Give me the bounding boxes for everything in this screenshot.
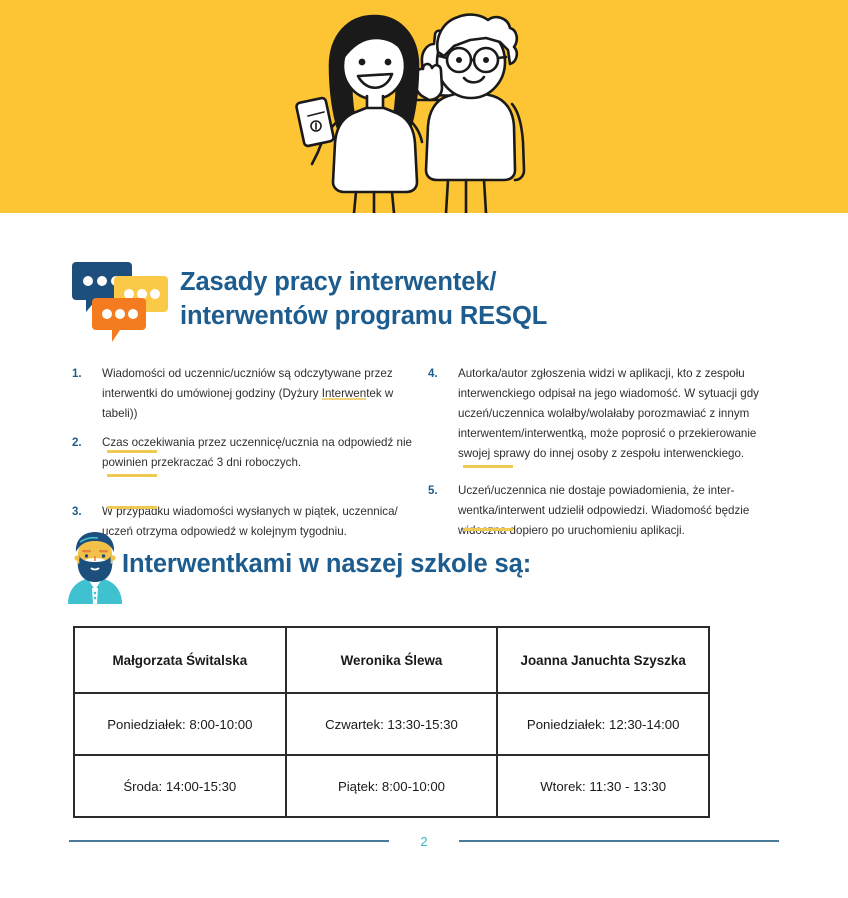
table-header-cell: Weronika Ślewa: [286, 627, 498, 693]
table-header-cell: Małgorzata Świtalska: [74, 627, 286, 693]
table-cell: Wtorek: 11:30 - 13:30: [497, 755, 709, 817]
list-item-number: 2.: [72, 433, 102, 473]
table-cell: Poniedziałek: 8:00-10:00: [74, 693, 286, 755]
table-header-cell: Joanna Januchta Szyszka: [497, 627, 709, 693]
list-item: 2. Czas oczekiwania przez uczennicę/uczn…: [72, 433, 412, 473]
list-item-text: Autorka/autor zgłoszenia widzi w aplikac…: [458, 364, 778, 464]
footer-rule-right: [459, 840, 779, 842]
list-item: 4. Autorka/autor zgłoszenia widzi w apli…: [428, 364, 778, 464]
rules-column-left: 1. Wiadomości od uczennic/uczniów są odc…: [72, 364, 412, 551]
list-item-text: Wiadomości od uczennic/uczniów są odczyt…: [102, 364, 412, 424]
table-row: Poniedziałek: 8:00-10:00 Czwartek: 13:30…: [74, 693, 709, 755]
table-header-row: Małgorzata Świtalska Weronika Ślewa Joan…: [74, 627, 709, 693]
interveners-heading-title: Interwentkami w naszej szkole są:: [122, 550, 531, 579]
header-banner: [0, 0, 848, 213]
rules-heading-line1: Zasady pracy interwentek/: [180, 268, 496, 296]
table-cell: Poniedziałek: 12:30-14:00: [497, 693, 709, 755]
page-footer: 2: [0, 826, 848, 856]
table-cell: Czwartek: 13:30-15:30: [286, 693, 498, 755]
rules-column-right: 4. Autorka/autor zgłoszenia widzi w apli…: [428, 364, 778, 550]
speech-bubbles-icon: [72, 258, 168, 342]
rules-heading-block: Zasady pracy interwentek/ interwentów pr…: [0, 248, 848, 348]
page-number: 2: [417, 834, 431, 849]
list-item: 1. Wiadomości od uczennic/uczniów są odc…: [72, 364, 412, 424]
divider-bar: [463, 465, 513, 468]
schedule-table: Małgorzata Świtalska Weronika Ślewa Joan…: [73, 626, 710, 818]
rules-heading-title: Zasady pracy interwentek/ interwentów pr…: [180, 266, 800, 334]
table-row: Środa: 14:00-15:30 Piątek: 8:00-10:00 Wt…: [74, 755, 709, 817]
rules-heading-line2: interwentów programu RESQL: [180, 300, 800, 334]
footer-rule-left: [69, 840, 389, 842]
bearded-person-avatar-icon: [66, 530, 124, 604]
table-cell: Piątek: 8:00-10:00: [286, 755, 498, 817]
list-item-number: 1.: [72, 364, 102, 424]
list-item-text-highlight: Interwen: [322, 387, 366, 400]
divider-bar: [107, 474, 157, 477]
interveners-heading-block: Interwentkami w naszej szkole są:: [0, 528, 848, 608]
schedule-table-wrapper: Małgorzata Świtalska Weronika Ślewa Joan…: [73, 626, 710, 818]
divider-bar: [107, 506, 157, 509]
table-cell: Środa: 14:00-15:30: [74, 755, 286, 817]
list-item-number: 4.: [428, 364, 458, 464]
two-students-illustration: [272, 0, 562, 213]
list-item-text: Czas oczekiwania przez uczennicę/ucznia …: [102, 433, 412, 473]
